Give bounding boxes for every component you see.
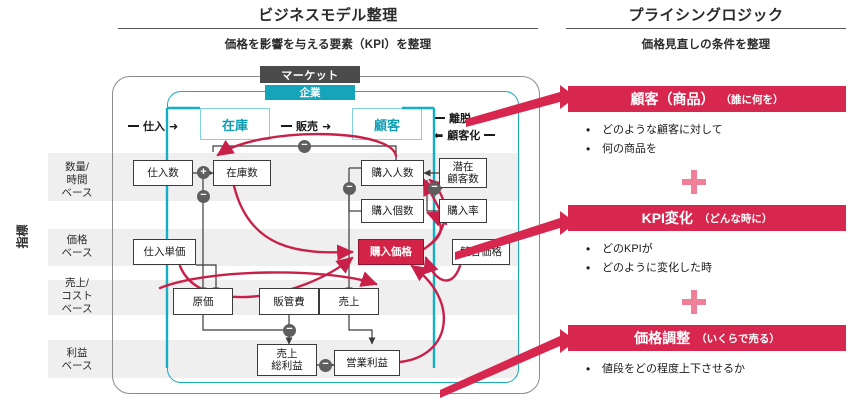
axis-label-indicator: 指標 <box>14 217 31 257</box>
list-item: どのKPIが <box>580 240 712 259</box>
sign-minus-buyer-rail: − <box>343 182 356 195</box>
band-label-revenue-cost: 売上/コストベース <box>48 277 106 316</box>
band-label-price: 価格ベース <box>48 234 106 260</box>
node-sga-expense[interactable]: 販管費 <box>259 288 319 315</box>
plus-separator-two <box>681 289 707 320</box>
callout-bullets-kpi-change: どのKPIが どのように変化した時 <box>580 240 712 278</box>
node-inventory-count[interactable]: 在庫数 <box>213 160 271 186</box>
company-tab-label: 企業 <box>265 85 355 100</box>
callout-bullets-customer-product: どのような顧客に対して 何の商品を <box>580 121 723 159</box>
flow-label-procure: 仕入➜ <box>128 118 178 134</box>
band-label-profit: 利益ベース <box>48 347 106 373</box>
sign-plus-inventory-in: + <box>197 166 210 179</box>
list-item: 何の商品を <box>580 140 723 159</box>
node-purchase-count[interactable]: 仕入数 <box>133 160 193 186</box>
stage-label-customer: 顧客 <box>374 115 400 134</box>
flow-label-churn: 離脱➜ <box>434 110 484 126</box>
stage-label-inventory: 在庫 <box>222 115 248 134</box>
node-purchase-price[interactable]: 購入価格 <box>358 239 424 265</box>
callout-sub-price-adjustment: （いくらで売る） <box>696 331 780 346</box>
sign-minus-buyer-to-inventory: − <box>298 140 311 153</box>
left-header-subtitle: 価格を影響を与える要素（KPI）を整理 <box>118 29 538 52</box>
list-item: 値段をどの程度上下させるか <box>580 360 745 379</box>
market-tab-label: マーケット <box>260 66 360 83</box>
node-purchase-units[interactable]: 購入個数 <box>361 199 424 223</box>
stage-box-customer[interactable]: 顧客 <box>352 108 422 140</box>
node-competitor-price[interactable]: 競合価格 <box>452 239 510 265</box>
band-label-quantity-time: 数量/時間ベース <box>48 161 106 200</box>
plus-icon <box>681 289 707 315</box>
callout-sub-customer-product: （誰に何を） <box>721 92 784 107</box>
plus-icon <box>681 169 707 195</box>
left-section-header: ビジネスモデル整理 価格を影響を与える要素（KPI）を整理 <box>118 4 538 52</box>
node-unit-cost[interactable]: 仕入単価 <box>133 239 196 265</box>
callout-title-price-adjustment: 価格調整 <box>634 328 690 348</box>
sign-minus-inventory-out: − <box>197 190 210 203</box>
sign-minus-gross-profit-in: − <box>283 324 296 337</box>
node-revenue[interactable]: 売上 <box>319 288 379 315</box>
stage-box-inventory[interactable]: 在庫 <box>200 108 270 140</box>
right-header-title: プライシングロジック <box>566 4 846 28</box>
callout-title-kpi-change: KPI変化 <box>642 208 693 228</box>
flow-label-acquisition: ⬅顧客化 <box>434 127 495 143</box>
list-item: どのように変化した時 <box>580 259 712 278</box>
node-buyer-count[interactable]: 購入人数 <box>361 160 424 186</box>
callout-sub-kpi-change: （どんな時に） <box>699 211 773 226</box>
left-header-title: ビジネスモデル整理 <box>118 4 538 28</box>
node-potential-customers[interactable]: 潜在顧客数 <box>439 158 487 188</box>
flow-label-sell: 販売➜ <box>281 118 331 134</box>
node-operating-profit[interactable]: 営業利益 <box>334 350 400 376</box>
callout-header-kpi-change[interactable]: KPI変化 （どんな時に） <box>568 205 846 231</box>
right-header-subtitle: 価格見直しの条件を整理 <box>566 29 846 52</box>
list-item: どのような顧客に対して <box>580 121 723 140</box>
node-gross-profit[interactable]: 売上総利益 <box>257 344 317 376</box>
right-section-header: プライシングロジック 価格見直しの条件を整理 <box>566 4 846 52</box>
callout-header-customer-product[interactable]: 顧客（商品） （誰に何を） <box>568 86 846 112</box>
callout-bullets-price-adjustment: 値段をどの程度上下させるか <box>580 360 745 379</box>
callout-header-price-adjustment[interactable]: 価格調整 （いくらで売る） <box>568 325 846 351</box>
node-cost-of-goods[interactable]: 原価 <box>173 288 233 315</box>
sign-minus-operating-profit-in: − <box>319 359 332 372</box>
sign-minus-rate-rail: − <box>428 182 441 195</box>
plus-separator-one <box>681 169 707 200</box>
node-purchase-rate[interactable]: 購入率 <box>439 199 487 223</box>
callout-title-customer-product: 顧客（商品） <box>631 89 715 109</box>
